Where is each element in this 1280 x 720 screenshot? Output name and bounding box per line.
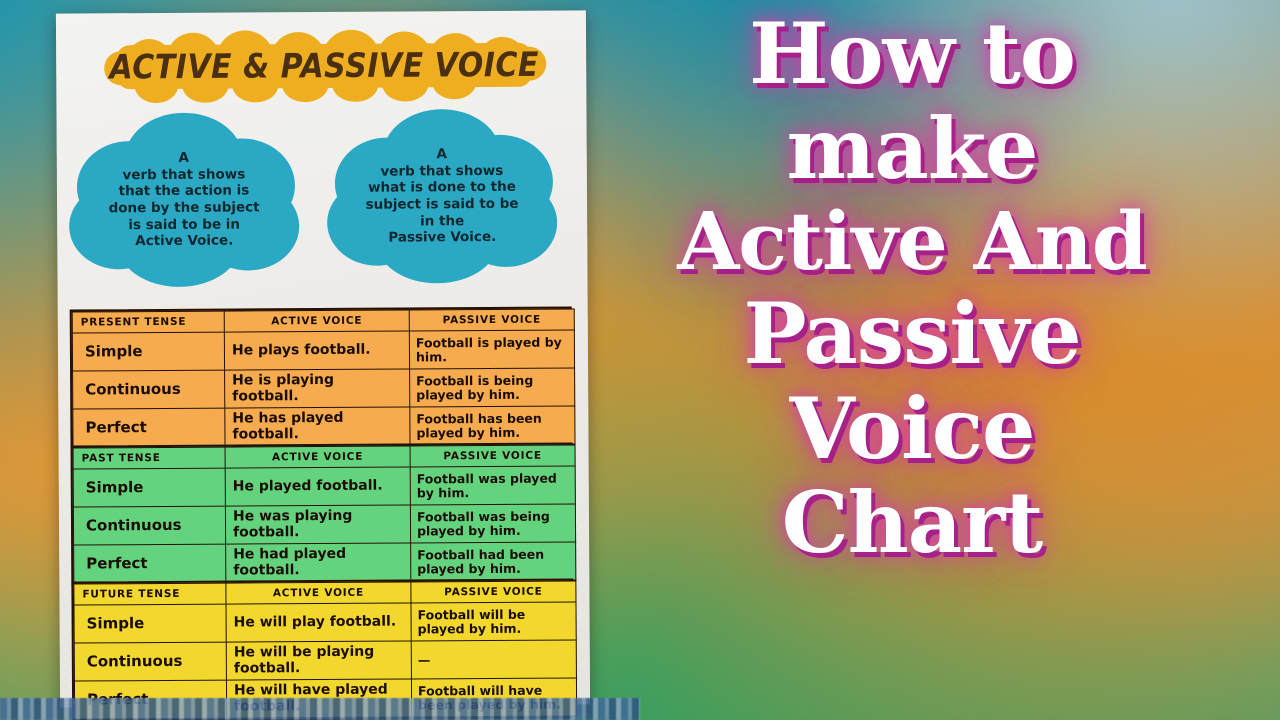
table-row: Continuous He will be playing football. …	[74, 640, 576, 681]
cloud-line: Passive Voice.	[388, 230, 496, 246]
column-header-active: Active Voice	[224, 310, 409, 332]
column-header-passive: Passive Voice	[410, 445, 575, 467]
cell-active: He played football.	[225, 467, 410, 506]
cell-passive: Football had been played by him.	[411, 542, 576, 581]
cloud-line: verb that shows	[122, 167, 245, 183]
column-header-tense: Past Tense	[73, 447, 225, 469]
column-header-active: Active Voice	[225, 446, 410, 468]
table-header-row: Present Tense Active Voice Passive Voice	[72, 309, 574, 333]
cell-passive: Football is played by him.	[409, 330, 574, 369]
cell-tense: Continuous	[74, 642, 226, 681]
cell-tense: Perfect	[73, 408, 225, 447]
table-row: Perfect He has played football. Football…	[73, 406, 575, 447]
column-header-passive: Passive Voice	[411, 581, 576, 603]
passive-voice-definition-cloud: A verb that shows what is done to the su…	[326, 109, 557, 285]
cell-tense: Continuous	[73, 506, 225, 545]
table-row: Simple He will play football. Football w…	[74, 602, 576, 643]
table-row: Continuous He was playing football. Foot…	[73, 504, 575, 545]
table-header-row: Past Tense Active Voice Passive Voice	[73, 445, 575, 469]
cloud-line: verb that shows	[380, 164, 503, 180]
screenshot-stage: Active & Passive Voice A verb that shows…	[0, 0, 1280, 720]
cloud-line: is said to be in	[128, 217, 240, 233]
active-voice-definition-text: A verb that shows that the action is don…	[68, 112, 299, 288]
cell-tense: Simple	[74, 604, 226, 643]
cell-passive: Football will be played by him.	[411, 602, 576, 641]
cell-passive: —	[411, 640, 576, 679]
poster-title-banner: Active & Passive Voice	[104, 29, 544, 104]
cell-active: He has played football.	[225, 407, 410, 446]
column-header-tense: Future Tense	[74, 583, 226, 605]
cloud-line: A	[436, 147, 447, 163]
cell-passive: Football is being played by him.	[410, 368, 575, 407]
cell-active: He will be playing football.	[226, 641, 411, 680]
poster-title-text: Active & Passive Voice	[104, 24, 544, 107]
cell-tense: Simple	[73, 468, 225, 507]
poster-board: Active & Passive Voice A verb that shows…	[56, 10, 590, 707]
past-tense-table: Past Tense Active Voice Passive Voice Si…	[71, 442, 574, 585]
cloud-line: that the action is	[119, 184, 250, 200]
cell-active: He had played football.	[226, 543, 411, 582]
cell-active: He was playing football.	[225, 505, 410, 544]
table-row: Perfect He had played football. Football…	[74, 542, 576, 583]
cell-active: He will play football.	[226, 603, 411, 642]
active-voice-definition-cloud: A verb that shows that the action is don…	[68, 112, 299, 288]
cloud-line: Active Voice.	[135, 234, 233, 250]
desk-surface	[0, 698, 640, 720]
table-header-row: Future Tense Active Voice Passive Voice	[74, 581, 576, 605]
cell-passive: Football has been played by him.	[410, 406, 575, 445]
cloud-line: what is done to the	[368, 180, 516, 197]
table-row: Simple He played football. Football was …	[73, 466, 575, 507]
cell-active: He plays football.	[224, 331, 409, 370]
cell-tense: Simple	[72, 332, 224, 371]
table-row: Simple He plays football. Football is pl…	[72, 330, 574, 371]
table-row: Continuous He is playing football. Footb…	[73, 368, 575, 409]
column-header-active: Active Voice	[226, 582, 411, 604]
passive-voice-definition-text: A verb that shows what is done to the su…	[326, 109, 557, 285]
cell-tense: Perfect	[74, 544, 226, 583]
cell-passive: Football was being played by him.	[410, 504, 575, 543]
cell-passive: Football was played by him.	[410, 466, 575, 505]
cell-tense: Continuous	[73, 370, 225, 409]
column-header-tense: Present Tense	[72, 311, 224, 333]
cloud-line: done by the subject	[109, 200, 260, 217]
present-tense-table: Present Tense Active Voice Passive Voice…	[70, 306, 573, 449]
column-header-passive: Passive Voice	[409, 309, 574, 331]
cloud-line: A	[178, 151, 189, 167]
cloud-line: in the	[420, 214, 464, 230]
cell-active: He is playing football.	[225, 369, 410, 408]
cloud-line: subject is said to be	[366, 197, 519, 214]
